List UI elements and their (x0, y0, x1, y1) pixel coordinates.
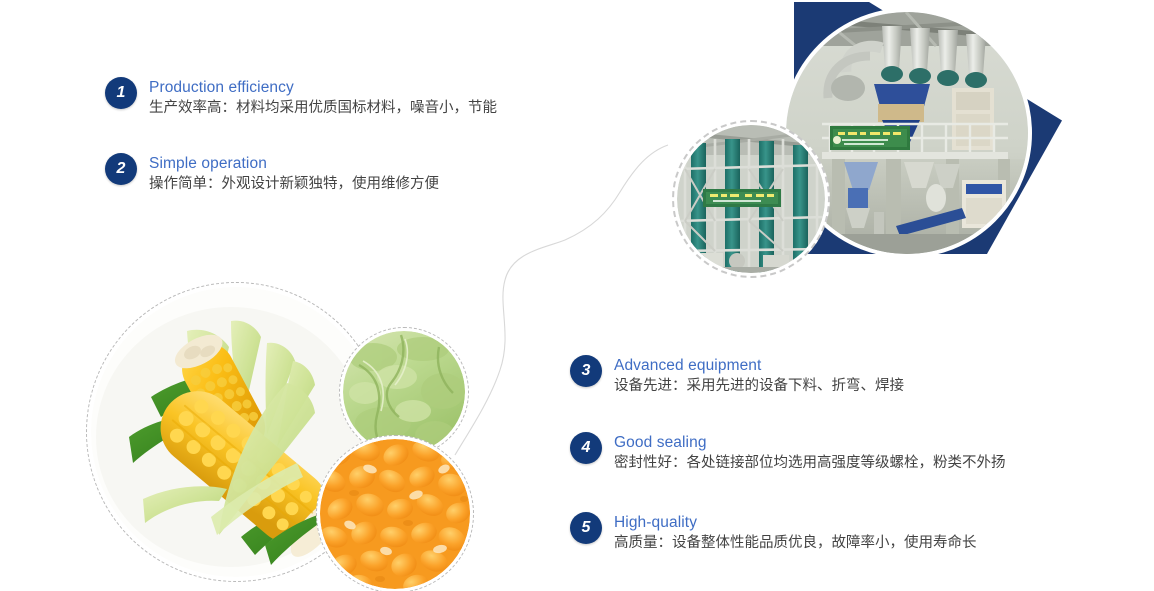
feature-item-1: 1 Production efficiency 生产效率高：材料均采用优质国标材… (105, 77, 497, 119)
feature-desc-3: 设备先进：采用先进的设备下料、折弯、焊接 (614, 376, 904, 397)
feature-title-1: Production efficiency (149, 78, 497, 97)
feature-badge-1: 1 (105, 77, 137, 109)
feature-badge-3: 3 (570, 355, 602, 387)
feature-text-4: Good sealing 密封性好：各处链接部位均选用高强度等级螺栓，粉类不外扬 (614, 432, 1006, 474)
factory-media-group (662, 0, 1154, 280)
feature-item-2: 2 Simple operation 操作简单：外观设计新颖独特，使用维修方便 (105, 153, 439, 195)
feature-text-2: Simple operation 操作简单：外观设计新颖独特，使用维修方便 (149, 153, 439, 195)
feature-item-4: 4 Good sealing 密封性好：各处链接部位均选用高强度等级螺栓，粉类不… (570, 432, 1006, 474)
feature-item-5: 5 High-quality 高质量：设备整体性能品质优良，故障率小，使用寿命长 (570, 512, 977, 554)
feature-title-2: Simple operation (149, 154, 439, 173)
feature-desc-2: 操作简单：外观设计新颖独特，使用维修方便 (149, 174, 439, 195)
corn-media-group (86, 282, 506, 591)
feature-desc-4: 密封性好：各处链接部位均选用高强度等级螺栓，粉类不外扬 (614, 453, 1006, 474)
feature-text-3: Advanced equipment 设备先进：采用先进的设备下料、折弯、焊接 (614, 355, 904, 397)
feature-text-1: Production efficiency 生产效率高：材料均采用优质国标材料，… (149, 77, 497, 119)
feature-item-3: 3 Advanced equipment 设备先进：采用先进的设备下料、折弯、焊… (570, 355, 904, 397)
feature-badge-4: 4 (570, 432, 602, 464)
feature-desc-5: 高质量：设备整体性能品质优良，故障率小，使用寿命长 (614, 533, 977, 554)
feature-text-5: High-quality 高质量：设备整体性能品质优良，故障率小，使用寿命长 (614, 512, 977, 554)
feature-desc-1: 生产效率高：材料均采用优质国标材料，噪音小，节能 (149, 98, 497, 119)
page-root: 1 Production efficiency 生产效率高：材料均采用优质国标材… (0, 0, 1154, 591)
feature-badge-5: 5 (570, 512, 602, 544)
feature-title-5: High-quality (614, 513, 977, 532)
feature-title-4: Good sealing (614, 433, 1006, 452)
feature-title-3: Advanced equipment (614, 356, 904, 375)
factory-green-machinery-photo (672, 120, 830, 278)
orange-corn-kernels-photo (320, 439, 470, 589)
feature-badge-2: 2 (105, 153, 137, 185)
